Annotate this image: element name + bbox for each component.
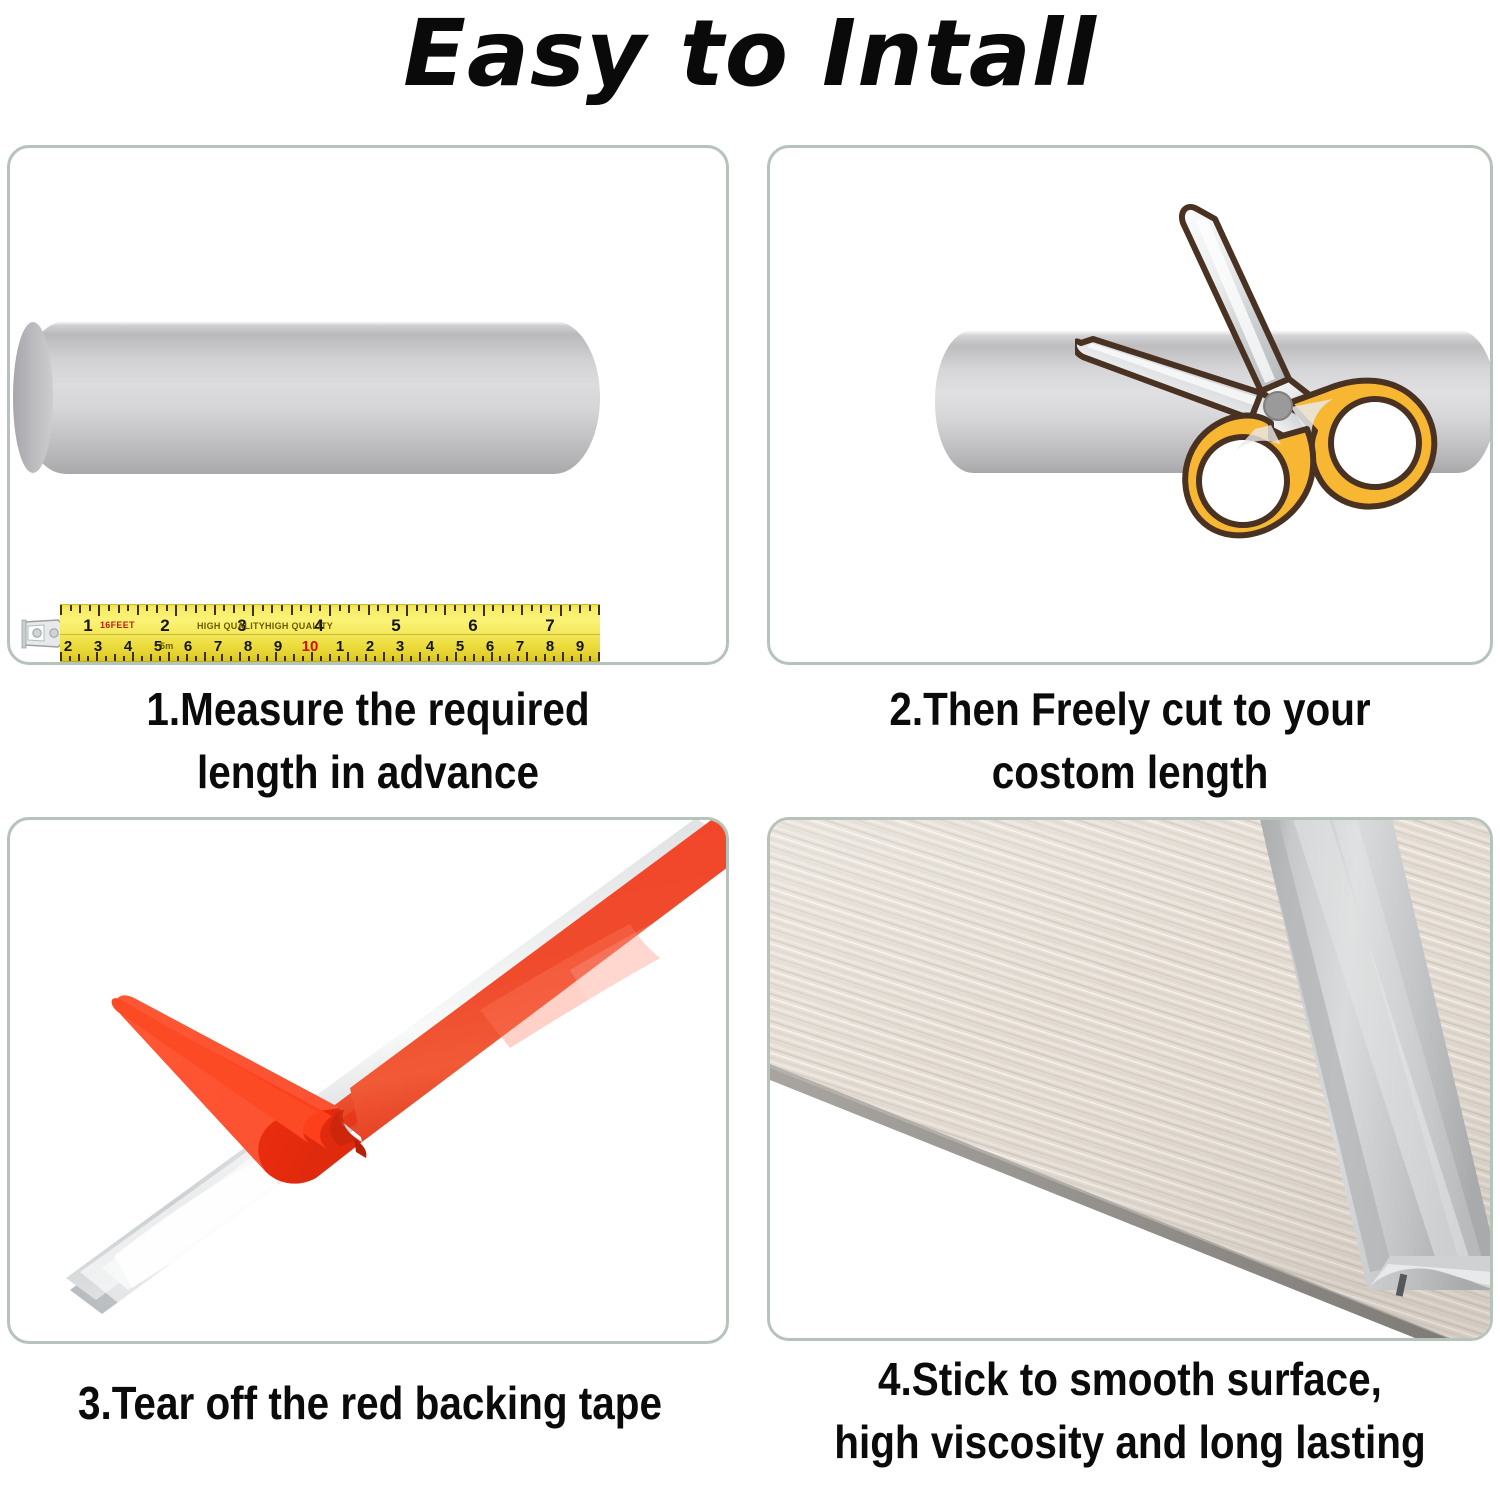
metric-length-label: 5m: [160, 641, 174, 651]
pipe-end-cap: [13, 322, 53, 473]
cm-label: 9: [576, 638, 584, 655]
cm-label: 3: [396, 638, 404, 655]
cm-label: 7: [214, 638, 222, 655]
tape-quality-text: HIGH QUALITY: [265, 621, 333, 631]
step-3-caption: 3.Tear off the red backing tape: [44, 1372, 695, 1435]
step-4-image-panel: [767, 817, 1493, 1341]
caption-line: length in advance: [50, 741, 685, 804]
cm-label: 2: [366, 638, 374, 655]
installed-strip-illustration: [770, 820, 1493, 1341]
gray-pipe: [20, 321, 600, 474]
caption-line: 1.Measure the required: [50, 678, 685, 741]
caption-line: costom length: [811, 741, 1450, 804]
inch-label: 2: [160, 616, 169, 636]
page-title: Easy to Intall: [0, 2, 1500, 105]
step-3-image-panel: [7, 817, 729, 1344]
tape-peel-illustration: [10, 820, 729, 1344]
caption-line: high viscosity and long lasting: [804, 1411, 1455, 1474]
imperial-length-label: 16FEET: [100, 620, 135, 630]
cm-label: 7: [516, 638, 524, 655]
cm-label: 2: [64, 638, 72, 655]
step-4-caption: 4.Stick to smooth surface, high viscosit…: [804, 1348, 1455, 1475]
step-2-image-panel: [767, 145, 1493, 665]
cm-label: 5: [456, 638, 464, 655]
cm-label: 1: [336, 638, 344, 655]
tape-measure: 1 2 3 4 5 6 7 2 3 4 5 6 7 8 9: [20, 600, 600, 665]
step-2-caption: 2.Then Freely cut to your costom length: [811, 678, 1450, 805]
caption-line: 2.Then Freely cut to your: [811, 678, 1450, 741]
tape-measure-blade: 1 2 3 4 5 6 7 2 3 4 5 6 7 8 9: [60, 604, 600, 662]
tape-divider-line: [60, 634, 600, 635]
instruction-infographic: Easy to Intall: [0, 0, 1500, 1485]
step-1-caption: 1.Measure the required length in advance: [50, 678, 685, 805]
cm-label: 3: [94, 638, 102, 655]
cm-label: 4: [426, 638, 434, 655]
cm-label: 6: [486, 638, 494, 655]
inch-tick-marks: [60, 605, 600, 616]
cm-label: 4: [124, 638, 132, 655]
caption-line: 3.Tear off the red backing tape: [44, 1372, 695, 1435]
caption-line: 4.Stick to smooth surface,: [804, 1348, 1455, 1411]
inch-label: 1: [83, 616, 92, 636]
cm-label: 8: [244, 638, 252, 655]
inch-label: 5: [391, 616, 400, 636]
cm-label: 9: [274, 638, 282, 655]
scissors-icon: [1075, 193, 1493, 663]
inch-label: 6: [468, 616, 477, 636]
step-1-image-panel: 1 2 3 4 5 6 7 2 3 4 5 6 7 8 9: [7, 145, 729, 665]
cm-label: 6: [184, 638, 192, 655]
tape-quality-text: HIGH QUALITY: [197, 621, 265, 631]
cm-label: 8: [546, 638, 554, 655]
inch-label: 7: [545, 616, 554, 636]
cm-label-highlight: 10: [302, 638, 319, 655]
